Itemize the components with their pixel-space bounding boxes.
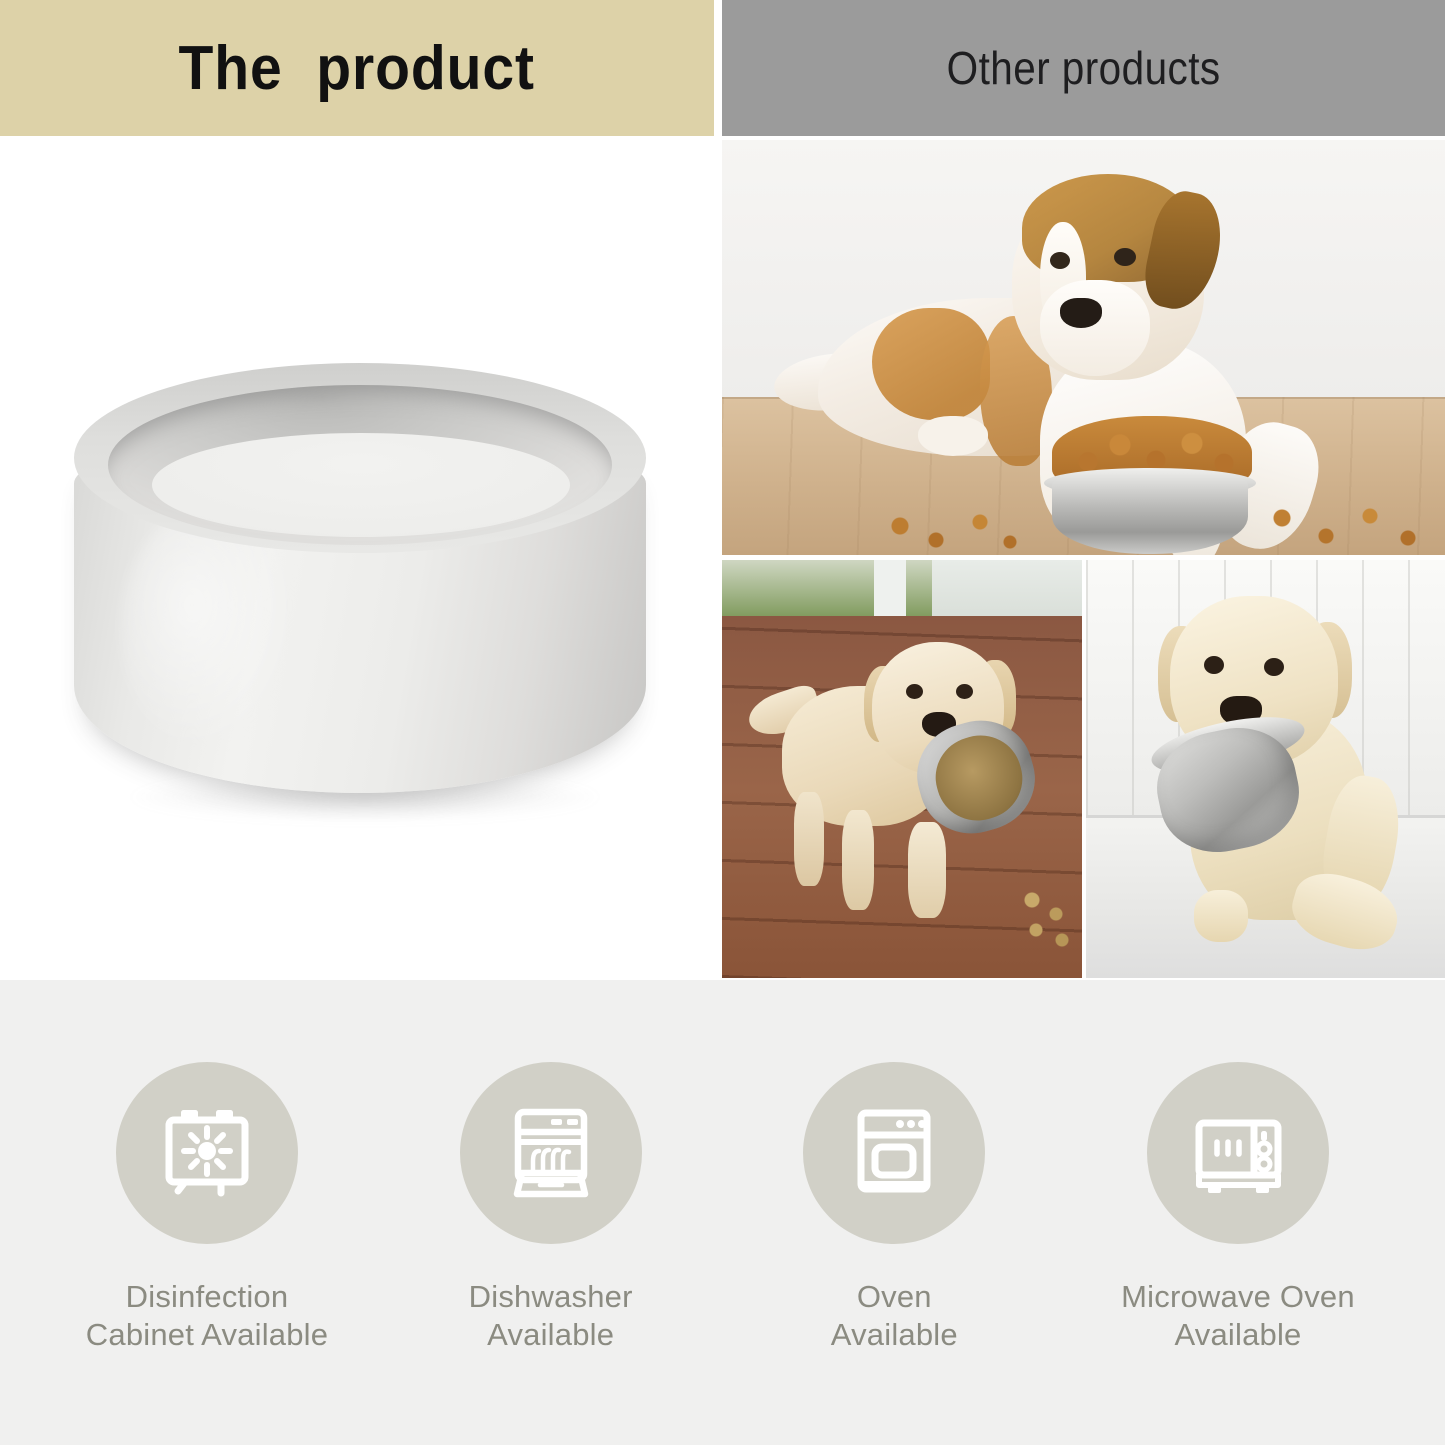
feature-label: Microwave Oven Available — [1121, 1278, 1355, 1354]
feature-label: Dishwasher Available — [469, 1278, 633, 1354]
product-bowl-photo — [60, 355, 660, 855]
feature-icon-circle — [460, 1062, 642, 1244]
photo1-dog-nose — [1060, 298, 1102, 328]
feature-microwave-oven: Microwave Oven Available — [1073, 1062, 1403, 1354]
photo2-puppy-leg-a — [794, 792, 824, 886]
photo3-puppy-paw-left — [1194, 890, 1248, 942]
feature-icon-circle — [116, 1062, 298, 1244]
feature-label: Disinfection Cabinet Available — [86, 1278, 328, 1354]
product-infographic: The product Other products — [0, 0, 1445, 1445]
header-the-product: The product — [0, 0, 714, 136]
photo2-scattered-kibble — [1012, 880, 1082, 960]
header-the-product-title: The product — [179, 33, 535, 104]
photo2-puppy-leg-b — [842, 810, 874, 910]
other-products-photo-grid — [722, 140, 1445, 978]
feature-label: Oven Available — [831, 1278, 958, 1354]
photo2-puppy-leg-c — [908, 822, 946, 918]
photo1-dog-rear-paw — [918, 416, 988, 456]
photo2-puppy-eye-right — [956, 684, 973, 699]
photo1-scattered-kibble — [722, 492, 1445, 554]
photo1-dog-eye-right — [1114, 248, 1136, 266]
bowl-inner-floor — [152, 433, 570, 537]
disinfection-cabinet-icon — [155, 1101, 259, 1205]
header-other-products: Other products — [722, 0, 1445, 136]
photo3-puppy-eye-right — [1264, 658, 1284, 676]
feature-bar: Disinfection Cabinet Available — [0, 980, 1445, 1445]
oven-icon — [842, 1101, 946, 1205]
dishwasher-icon — [499, 1101, 603, 1205]
feature-oven: Oven Available — [729, 1062, 1059, 1354]
feature-disinfection-cabinet: Disinfection Cabinet Available — [42, 1062, 372, 1354]
photo1-dog-muzzle — [1040, 280, 1150, 376]
photo3-puppy-eye-left — [1204, 656, 1224, 674]
header-other-products-title: Other products — [947, 41, 1221, 95]
photo-labrador-puppy-carrying-bowl — [1086, 560, 1445, 978]
photo2-puppy-eye-left — [906, 684, 923, 699]
photo-terrier-with-kibble-bowl — [722, 140, 1445, 555]
feature-icon-circle — [1147, 1062, 1329, 1244]
feature-icon-circle — [803, 1062, 985, 1244]
photo1-dog-patch-a — [872, 308, 990, 420]
photo1-dog-eye-left — [1050, 252, 1070, 269]
product-panel — [0, 140, 714, 978]
feature-dishwasher: Dishwasher Available — [386, 1062, 716, 1354]
photo-golden-puppy-carrying-bowl — [722, 560, 1082, 978]
microwave-oven-icon — [1186, 1101, 1290, 1205]
